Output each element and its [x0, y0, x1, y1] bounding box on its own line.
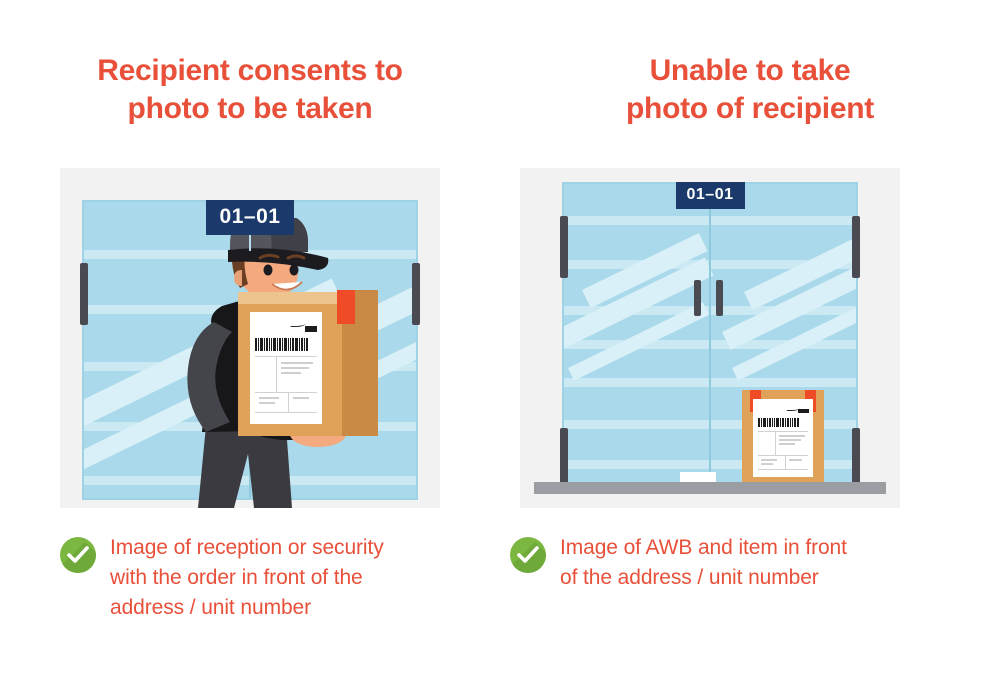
unit-number-sign-right: 01–01: [650, 182, 770, 209]
caption-line: with the order in front of the: [110, 563, 384, 593]
delivery-photo-guidelines: Recipient consents to photo to be taken: [0, 0, 1000, 688]
door-handle-icon: [80, 263, 88, 325]
label-text-line: [761, 459, 777, 461]
caption-line: address / unit number: [110, 593, 384, 623]
panel-recipient-consents: Recipient consents to photo to be taken: [0, 0, 500, 688]
label-rule: [255, 356, 317, 357]
door-handle-icon: [852, 216, 860, 278]
sign-pole: [249, 235, 251, 251]
heading-line-1: Unable to take: [500, 52, 1000, 90]
label-text-line: [281, 372, 301, 374]
check-circle-icon: [510, 537, 546, 573]
postal-logo-icon: [291, 319, 317, 332]
label-text-line: [779, 439, 801, 441]
barcode-icon: [255, 338, 311, 351]
checkmark-glyph: [517, 546, 539, 564]
caption-line: of the address / unit number: [560, 563, 847, 593]
door-pull-handle-icon: [694, 280, 701, 316]
door-handle-icon: [852, 428, 860, 490]
label-rule: [276, 356, 277, 392]
awb-label: [753, 399, 813, 477]
label-rule: [758, 469, 808, 470]
illustration-left: 01–01: [60, 168, 440, 508]
label-rule: [255, 412, 317, 413]
floor-mat: [680, 472, 716, 482]
label-rule: [758, 431, 808, 432]
label-rule: [775, 431, 776, 455]
checkmark-glyph: [67, 546, 89, 564]
unit-number-sign-left: 01–01: [190, 200, 310, 251]
label-rule: [288, 392, 289, 412]
label-rule: [758, 455, 808, 456]
caption-text-left: Image of reception or security with the …: [110, 533, 384, 622]
unit-number-label: 01–01: [676, 182, 745, 209]
label-text-line: [789, 459, 802, 461]
heading-line-2: photo of recipient: [500, 90, 1000, 128]
label-text-line: [779, 435, 805, 437]
barcode-icon: [758, 418, 804, 427]
label-text-line: [259, 397, 279, 399]
label-text-line: [761, 463, 773, 465]
caption-text-right: Image of AWB and item in front of the ad…: [560, 533, 847, 593]
label-text-line: [281, 367, 309, 369]
door-handle-icon: [412, 263, 420, 325]
parcel-right: [742, 390, 824, 482]
caption-right: Image of AWB and item in front of the ad…: [510, 533, 940, 593]
caption-left: Image of reception or security with the …: [60, 533, 480, 622]
page-title-left: Recipient consents to photo to be taken: [0, 52, 500, 129]
page-title-right: Unable to take photo of recipient: [500, 52, 1000, 129]
heading-line-2: photo to be taken: [0, 90, 500, 128]
floor-bar: [534, 482, 886, 494]
label-text-line: [779, 443, 795, 445]
label-text-line: [293, 397, 309, 399]
label-text-line: [259, 402, 275, 404]
label-rule: [255, 392, 317, 393]
label-text-line: [281, 362, 313, 364]
door-handle-icon: [560, 216, 568, 278]
parcel-left: [238, 298, 378, 436]
unit-number-label: 01–01: [206, 200, 295, 235]
caption-line: Image of AWB and item in front: [560, 533, 847, 563]
door-split-line: [709, 182, 711, 494]
illustration-right: 01–01: [520, 168, 900, 508]
caption-line: Image of reception or security: [110, 533, 384, 563]
heading-line-1: Recipient consents to: [0, 52, 500, 90]
awb-label: [250, 312, 322, 424]
panel-unable-to-take-photo: Unable to take photo of recipient: [500, 0, 1000, 688]
box-tape: [337, 290, 355, 324]
door-handle-icon: [560, 428, 568, 490]
postal-logo-icon: [787, 404, 809, 413]
box-top-face: [238, 292, 342, 304]
door-pull-handle-icon: [716, 280, 723, 316]
label-rule: [785, 455, 786, 469]
check-circle-icon: [60, 537, 96, 573]
